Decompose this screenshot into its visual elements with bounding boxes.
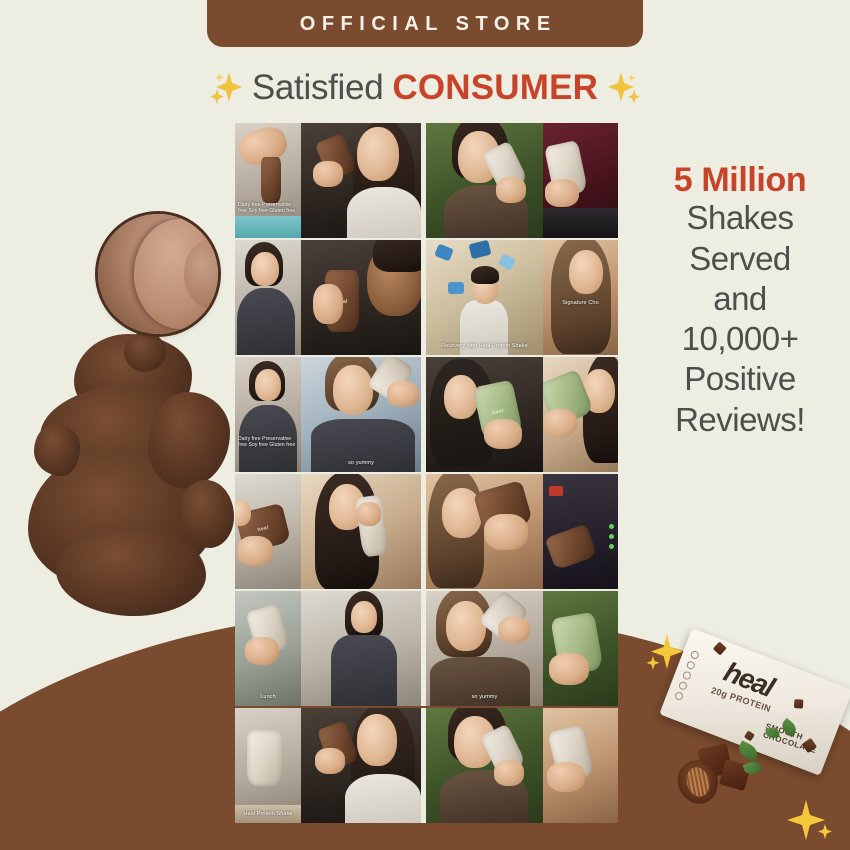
grid-photo-r3c2[interactable]: so yummy [301, 357, 421, 472]
official-store-label: OFFICIAL STORE [293, 13, 556, 36]
grid-photo-r5c1[interactable]: Lunch [235, 591, 301, 706]
grid-photo-r4c1[interactable]: heal [235, 474, 301, 589]
stat-line-6: Reviews! [632, 400, 848, 440]
grid-photo-caption: Dairy free Preservative free Soy free Gl… [238, 202, 299, 215]
grid-photo-caption: Heal Protein Shake [237, 811, 299, 818]
sparkle-icon [209, 70, 243, 106]
stat-line-2: Served [632, 239, 848, 279]
grid-photo-r6c3[interactable] [426, 708, 543, 823]
grid-photo-r5c4[interactable] [543, 591, 618, 706]
grid-photo-r3c1[interactable]: Dairy free Preservative free Soy free Gl… [235, 357, 301, 472]
grid-photo-r3c3[interactable]: heal [426, 357, 543, 472]
grid-photo-r2c2[interactable]: heal [301, 240, 421, 355]
grid-photo-r5c3[interactable]: so yummy [426, 591, 543, 706]
sparkle-icon [607, 70, 641, 106]
stats-block: 5 Million Shakes Served and 10,000+ Posi… [632, 163, 848, 440]
grid-photo-r1c2[interactable] [301, 123, 421, 238]
cocoa-powder-pile-image [28, 332, 233, 617]
title-satisfied: Satisfied [252, 68, 384, 108]
benefit-icon [690, 650, 700, 660]
benefit-icon [678, 681, 688, 691]
grid-photo-r6c1[interactable]: Heal Protein Shake [235, 708, 301, 823]
title-consumer: CONSUMER [392, 68, 598, 108]
benefit-icon [674, 691, 684, 701]
sparkle-icon [645, 632, 685, 679]
benefit-icon [686, 660, 696, 670]
testimonial-photo-grid: Dairy free Preservative free Soy free Gl… [235, 123, 618, 823]
grid-photo-caption: Dairy free Preservative free Soy free Gl… [238, 436, 299, 449]
grid-photo-r5c2[interactable] [301, 591, 421, 706]
grid-photo-r3c4[interactable] [543, 357, 618, 472]
poster-canvas: OFFICIAL STORE Satisfied CONSUMER [0, 0, 850, 850]
stat-line-1: Shakes [632, 198, 848, 238]
stat-line-3: and [632, 279, 848, 319]
grid-photo-r4c4[interactable] [543, 474, 618, 589]
official-store-badge: OFFICIAL STORE [207, 0, 643, 47]
grid-photo-r1c1[interactable]: Dairy free Preservative free Soy free Gl… [235, 123, 301, 238]
stat-line-5: Positive [632, 359, 848, 399]
sparkle-icon [786, 796, 834, 850]
grid-photo-r1c4[interactable] [543, 123, 618, 238]
cocoa-scoop-image [98, 214, 218, 334]
grid-photo-r2c3[interactable]: Recovery with Heal Protein Shake [426, 240, 543, 355]
grid-photo-r6c2[interactable] [301, 708, 421, 823]
grid-photo-r4c3[interactable] [426, 474, 543, 589]
shaker-brand-label: heal [478, 405, 518, 419]
grid-photo-caption: Lunch [237, 694, 299, 701]
chocolate-pieces-image [674, 736, 766, 808]
grid-photo-r6c4[interactable] [543, 708, 618, 823]
page-title: Satisfied CONSUMER [0, 60, 850, 116]
grid-photo-caption: Signature Cho [545, 300, 616, 307]
grid-photo-r4c2[interactable] [301, 474, 421, 589]
grid-photo-r2c4[interactable]: Signature Cho [543, 240, 618, 355]
grid-photo-caption: Recovery with Heal Protein Shake [428, 343, 541, 350]
stat-line-4: 10,000+ [632, 319, 848, 359]
grid-photo-r1c3[interactable] [426, 123, 543, 238]
stat-headline: 5 Million [632, 163, 848, 198]
grid-photo-r2c1[interactable] [235, 240, 301, 355]
grid-photo-caption: so yummy [428, 694, 541, 701]
grid-photo-caption: so yummy [303, 460, 419, 467]
